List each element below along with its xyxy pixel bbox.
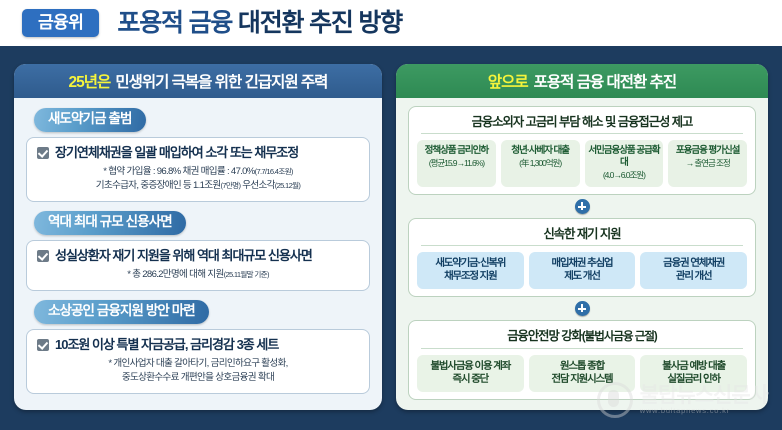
chip-title: 불법사금융 이용 계좌 xyxy=(419,360,522,373)
section-1-chip-2: 청년·사베자 대출 (年 1,300억원) xyxy=(501,140,580,187)
group-3-card: 10조원 이상 특별 자금공급, 금리경감 3종 세트 * 개인사업자 대출 갈… xyxy=(26,329,370,394)
chip-sub: (4.0→6.0조원) xyxy=(587,170,662,181)
left-panel: 25년은 민생위기 극복을 위한 긴급지원 주력 새도약기금 출범 장기연체채권… xyxy=(14,64,382,410)
chip-sub: (평균15.9→11.6%) xyxy=(419,158,494,169)
section-3-chip-1: 불법사금융 이용 계좌 즉시 중단 xyxy=(417,355,524,392)
section-2-chip-1: 새도약기금·신복위 채무조정 지원 xyxy=(417,252,524,289)
group-3-main-row: 10조원 이상 특별 자금공급, 금리경감 3종 세트 xyxy=(37,337,359,353)
group-2-main-text: 성실상환자 재기 지원을 위해 역대 최대규모 신용사면 xyxy=(55,248,312,264)
group-2-note: * 총 286.2만명에 대해 지원(25.11월말 기준) xyxy=(37,268,359,282)
chip-title: 청년·사베자 대출 xyxy=(503,145,578,157)
chip-title: 포용금융 평가신설 xyxy=(670,145,745,157)
section-1-title: 금융소외자 고금리 부담 해소 및 금융접근성 제고 xyxy=(421,112,743,134)
group-1-note-line1: * 협약 가입율 : 96.8% 채권 매입률 : 47.0% xyxy=(103,166,254,177)
group-2-note-line1-tiny: (25.11월말 기준) xyxy=(224,270,269,279)
left-group-3: 소상공인 금융지원 방안 마련 10조원 이상 특별 자금공급, 금리경감 3종… xyxy=(26,298,370,394)
section-2-chip-3: 금융권 연체채권 관리 개선 xyxy=(640,252,747,289)
plus-icon xyxy=(575,199,590,214)
left-panel-header: 25년은 민생위기 극복을 위한 긴급지원 주력 xyxy=(14,64,382,98)
connector-2 xyxy=(408,301,756,316)
plus-icon xyxy=(575,301,590,316)
right-header-rest: 포용적 금융 대전환 추진 xyxy=(534,70,677,92)
group-1-note-line2: 기초수급자, 중증장애인 등 1.1조원 xyxy=(96,180,221,191)
group-2-main-row: 성실상환자 재기 지원을 위해 역대 최대규모 신용사면 xyxy=(37,248,359,264)
section-3-chips: 불법사금융 이용 계좌 즉시 중단 원스톱 종합 전담 지원시스템 불사금 예방… xyxy=(417,355,747,392)
section-1-chip-3: 서민금융상품 공급확대 (4.0→6.0조원) xyxy=(585,140,664,187)
section-2-chip-2: 매입채권 추심업 제도 개선 xyxy=(529,252,636,289)
group-3-note-line1: * 개인사업자 대출 갈아타기, 금리인하요구 활성화, xyxy=(37,357,359,371)
section-1-chip-4: 포용금융 평가신설 → 출연금 조정 xyxy=(668,140,747,187)
section-1-chips: 정책상품 금리인하 (평균15.9→11.6%) 청년·사베자 대출 (年 1,… xyxy=(417,140,747,187)
page-title: 포용적 금융 대전환 추진 방향 xyxy=(117,11,402,36)
group-3-note-line2: 중도상환수수료 개편안을 상호금융권 확대 xyxy=(37,371,359,385)
chip-sub: 전담 지원시스템 xyxy=(531,373,634,386)
left-group-2: 역대 최대 규모 신용사면 성실상환자 재기 지원을 위해 역대 최대규모 신용… xyxy=(26,209,370,291)
page-title-part1: 포용적 금융 xyxy=(117,9,232,37)
page-title-part2: 대전환 추진 방향 xyxy=(238,9,402,37)
section-2-title: 신속한 재기 지원 xyxy=(421,224,743,246)
group-2-pill: 역대 최대 규모 신용사면 xyxy=(34,211,186,235)
group-1-note: * 협약 가입율 : 96.8% 채권 매입률 : 47.0%(7.7/16.4… xyxy=(37,165,359,193)
section-3-chip-2: 원스톱 종합 전담 지원시스템 xyxy=(529,355,636,392)
left-header-rest: 민생위기 극복을 위한 긴급지원 주력 xyxy=(115,70,327,92)
section-2-chips: 새도약기금·신복위 채무조정 지원 매입채권 추심업 제도 개선 금융권 연체채… xyxy=(417,252,747,289)
chip-title: 원스톱 종합 xyxy=(531,360,634,373)
group-3-note: * 개인사업자 대출 갈아타기, 금리인하요구 활성화, 중도상환수수료 개편안… xyxy=(37,357,359,385)
group-2-note-line1: * 총 286.2만명에 대해 지원 xyxy=(127,269,223,280)
section-3-chip-3: 불사금 예방 대출 실질금리 인하 xyxy=(640,355,747,392)
check-icon xyxy=(37,339,49,351)
section-1-chip-1: 정책상품 금리인하 (평균15.9→11.6%) xyxy=(417,140,496,187)
chip-sub: (年 1,300억원) xyxy=(503,158,578,169)
chip-title: 불사금 예방 대출 xyxy=(642,360,745,373)
section-3-title-main: 금융안전망 강화 xyxy=(507,329,582,343)
group-1-main-row: 장기연체채권을 일괄 매입하여 소각 또는 채무조정 xyxy=(37,145,359,161)
connector-1 xyxy=(408,199,756,214)
check-icon xyxy=(37,250,49,262)
group-2-card: 성실상환자 재기 지원을 위해 역대 최대규모 신용사면 * 총 286.2만명… xyxy=(26,240,370,291)
left-group-1: 새도약기금 출범 장기연체채권을 일괄 매입하여 소각 또는 채무조정 * 협약… xyxy=(26,106,370,202)
right-section-1: 금융소외자 고금리 부담 해소 및 금융접근성 제고 정책상품 금리인하 (평균… xyxy=(408,106,756,195)
group-1-note-line1-tiny: (7.7/16.4조원) xyxy=(255,167,293,176)
right-panel-body: 금융소외자 고금리 부담 해소 및 금융접근성 제고 정책상품 금리인하 (평균… xyxy=(396,98,768,410)
infographic-root: 금융위 포용적 금융 대전환 추진 방향 25년은 민생위기 극복을 위한 긴급… xyxy=(0,0,782,430)
section-3-title-sub: (불법사금융 근절) xyxy=(582,331,657,343)
chip-sub: 채무조정 지원 xyxy=(419,270,522,283)
check-icon xyxy=(37,147,49,159)
board-background: 25년은 민생위기 극복을 위한 긴급지원 주력 새도약기금 출범 장기연체채권… xyxy=(0,46,782,430)
chip-sub: 즉시 중단 xyxy=(419,373,522,386)
group-1-note-line2-tiny1: (7만명) xyxy=(221,181,241,190)
right-section-2: 신속한 재기 지원 새도약기금·신복위 채무조정 지원 매입채권 추심업 제도 … xyxy=(408,218,756,297)
chip-title: 금융권 연체채권 xyxy=(642,257,745,270)
chip-title: 서민금융상품 공급확대 xyxy=(587,145,662,169)
group-1-note-line2-b: 우선소각 xyxy=(240,180,274,191)
chip-title: 정책상품 금리인하 xyxy=(419,145,494,157)
right-panel: 앞으로 포용적 금융 대전환 추진 금융소외자 고금리 부담 해소 및 금융접근… xyxy=(396,64,768,410)
right-header-highlight: 앞으로 xyxy=(488,70,528,92)
group-3-main-text: 10조원 이상 특별 자금공급, 금리경감 3종 세트 xyxy=(55,337,278,353)
group-3-pill: 소상공인 금융지원 방안 마련 xyxy=(34,300,209,324)
chip-sub: 실질금리 인하 xyxy=(642,373,745,386)
group-1-pill: 새도약기금 출범 xyxy=(34,108,146,132)
right-section-3: 금융안전망 강화(불법사금융 근절) 불법사금융 이용 계좌 즉시 중단 원스톱… xyxy=(408,320,756,400)
chip-sub: 제도 개선 xyxy=(531,270,634,283)
chip-sub: 관리 개선 xyxy=(642,270,745,283)
section-3-title: 금융안전망 강화(불법사금융 근절) xyxy=(421,326,743,349)
right-panel-header: 앞으로 포용적 금융 대전환 추진 xyxy=(396,64,768,98)
left-panel-body: 새도약기금 출범 장기연체채권을 일괄 매입하여 소각 또는 채무조정 * 협약… xyxy=(14,98,382,410)
left-header-highlight: 25년은 xyxy=(69,70,111,92)
group-1-main-text: 장기연체채권을 일괄 매입하여 소각 또는 채무조정 xyxy=(55,145,298,161)
chip-title: 새도약기금·신복위 xyxy=(419,257,522,270)
group-1-card: 장기연체채권을 일괄 매입하여 소각 또는 채무조정 * 협약 가입율 : 96… xyxy=(26,137,370,202)
title-bar: 금융위 포용적 금융 대전환 추진 방향 xyxy=(0,0,782,46)
chip-title: 매입채권 추심업 xyxy=(531,257,634,270)
agency-badge: 금융위 xyxy=(22,9,99,37)
chip-sub: → 출연금 조정 xyxy=(670,158,745,169)
group-1-note-line2-tiny2: (25.12월) xyxy=(275,181,300,190)
